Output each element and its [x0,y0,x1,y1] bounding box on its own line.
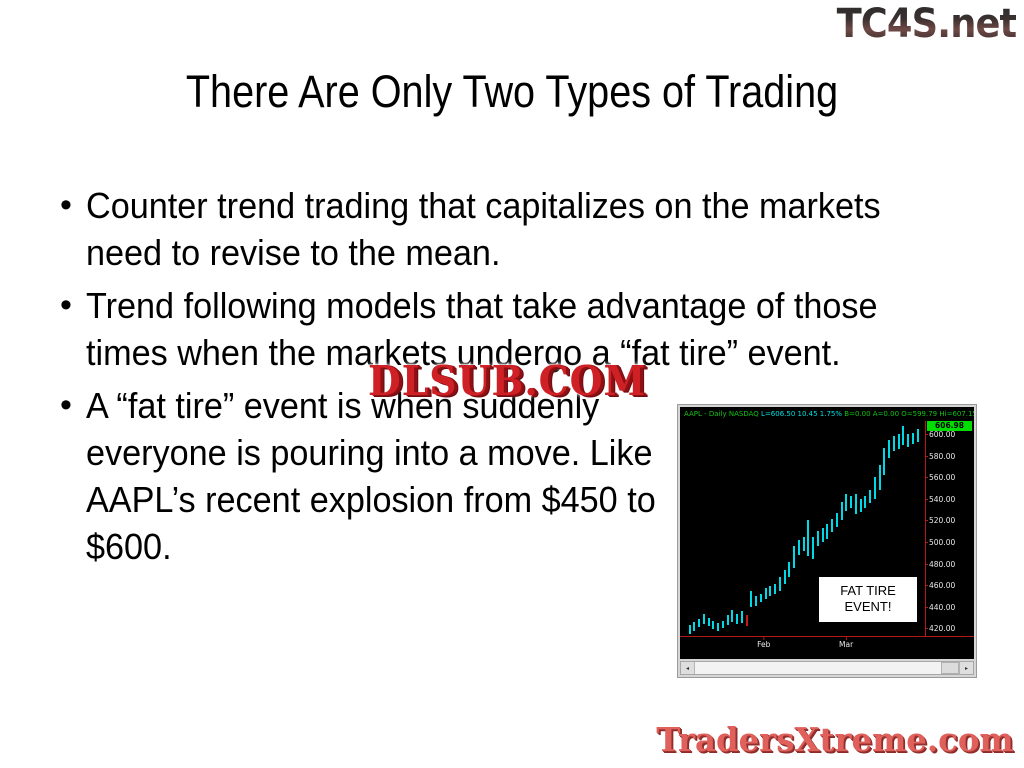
chart-ask: A=0.00 [873,410,899,418]
chart-symbol: AAPL [684,410,702,418]
price-axis-tick: 580.00 [929,452,955,461]
bullet-marker-icon: • [52,382,86,429]
price-bar [693,622,695,631]
price-axis-tick: 520.00 [929,516,955,525]
tc4s-logo: TC4S.net [836,2,1016,46]
price-bar [746,615,748,626]
price-bar [912,433,914,444]
price-bar [717,623,719,631]
annotation-line-2: EVENT! [821,599,915,615]
price-bar [841,502,843,520]
price-bar [869,490,871,503]
tradersxtreme-logo: TradersXtreme.com [657,720,1014,760]
price-bar [736,614,738,624]
scroll-left-icon[interactable]: ◂ [681,662,695,674]
price-bar [860,499,862,512]
price-bar [774,584,776,594]
price-bar [769,586,771,596]
price-bar [855,494,857,513]
price-bar [722,621,724,629]
price-bar [712,621,714,630]
price-bar [812,537,814,560]
price-bar [864,496,866,509]
price-bar [703,614,705,624]
price-bar [898,434,900,449]
price-bar [689,625,691,634]
price-bar [708,618,710,627]
price-bar [788,562,790,576]
price-bar [755,596,757,606]
price-bar [731,610,733,622]
price-bar [765,588,767,599]
chart-exchange: NASDAQ [729,410,759,418]
price-bar [893,436,895,451]
annotation-line-1: FAT TIRE [821,583,915,599]
bullet-marker-icon: • [52,282,86,329]
chart-bid: B=0.00 [844,410,870,418]
price-bar [907,434,909,447]
price-bar [831,519,833,532]
scrollbar-track[interactable] [695,662,959,674]
price-bar [779,577,781,591]
price-bar [698,619,700,628]
price-bar [784,570,786,584]
price-axis: 606.98 600.00580.00560.00540.00520.00500… [925,421,974,637]
price-bar [803,537,805,551]
bullet-text: A “fat tire” event is when suddenly ever… [86,382,694,570]
chart-header-quote-line: AAPL - Daily NASDAQ L=606.50 10.45 1.75%… [684,409,972,420]
price-bar [883,448,885,475]
chart-change: 10.45 [798,410,818,418]
chart-dash: - [704,410,707,418]
price-bar [817,531,819,546]
price-bar [798,540,800,555]
price-bar [836,513,838,527]
price-bar [879,465,881,490]
chart-open: O=599.79 [901,410,937,418]
chart-horizontal-scrollbar[interactable]: ◂ ▸ [680,661,974,675]
price-bar [845,494,847,510]
price-bar [826,524,828,539]
price-bar [902,426,904,444]
list-item: • Counter trend trading that capitalizes… [52,182,982,276]
stock-chart-widget[interactable]: AAPL - Daily NASDAQ L=606.50 10.45 1.75%… [677,404,977,678]
price-axis-tick: 560.00 [929,473,955,482]
page-title: There Are Only Two Types of Trading [61,66,962,118]
price-bar [750,591,752,607]
chart-high: Hi=607.15 [939,410,974,418]
price-axis-tick: 480.00 [929,560,955,569]
price-bar [807,520,809,556]
price-bar [760,594,762,603]
date-axis: FebMar [680,636,974,659]
chart-last-price: L=606.50 [761,410,795,418]
chart-canvas[interactable]: AAPL - Daily NASDAQ L=606.50 10.45 1.75%… [680,407,974,659]
chart-change-percent: 1.75% [820,410,842,418]
price-axis-tick: 500.00 [929,538,955,547]
price-bar [850,496,852,509]
bullet-text: Counter trend trading that capitalizes o… [86,182,937,276]
slide-canvas: TC4S.net There Are Only Two Types of Tra… [0,0,1024,768]
bullet-marker-icon: • [52,182,86,229]
price-bar [874,477,876,499]
price-bar [793,546,795,568]
scroll-right-icon[interactable]: ▸ [959,662,973,674]
scrollbar-thumb[interactable] [941,662,959,674]
price-axis-tick: 600.00 [929,430,955,439]
price-bar [917,429,919,442]
fat-tire-event-annotation: FAT TIRE EVENT! [818,576,918,623]
price-axis-tick: 540.00 [929,495,955,504]
price-axis-tick: 440.00 [929,603,955,612]
dlsub-watermark: DLSUB.COM [368,358,646,403]
price-bar [822,528,824,542]
date-axis-tick: Feb [757,640,770,649]
price-bar [727,615,729,625]
date-axis-tick: Mar [839,640,853,649]
chart-interval: Daily [709,410,727,418]
price-bar [741,611,743,623]
price-axis-tick: 460.00 [929,581,955,590]
price-axis-tick: 420.00 [929,624,955,633]
price-bar [888,440,890,457]
